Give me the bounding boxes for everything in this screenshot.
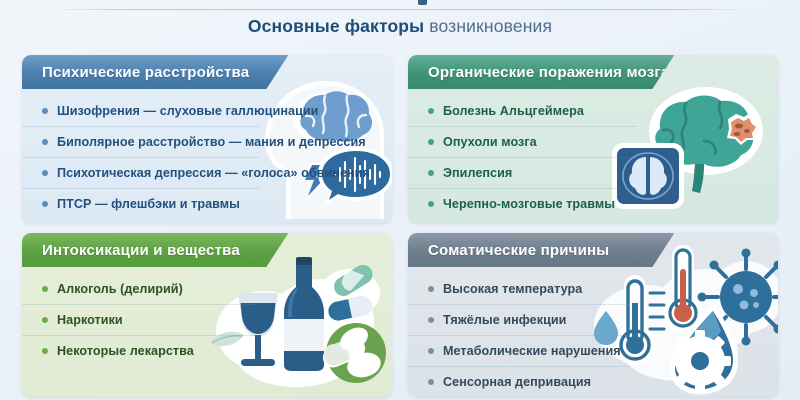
list-item[interactable]: ПТСР — флешбэки и травмы [22, 188, 259, 219]
card-intoxication-substances[interactable]: Интоксикации и вещества [22, 233, 392, 397]
bullet-dot-icon [428, 286, 434, 292]
bullet-dot-icon [428, 139, 434, 145]
list-item-label: Опухоли мозга [443, 135, 537, 149]
list-item-label: Наркотики [57, 313, 123, 327]
list-item[interactable]: Биполярное расстройство — мания и депрес… [22, 126, 259, 157]
bullet-dot-icon [42, 348, 48, 354]
card-title-toxic: Интоксикации и вещества [42, 242, 240, 259]
gear-icon [669, 330, 731, 392]
list-item[interactable]: Высокая температура [408, 273, 630, 304]
bullet-dot-icon [428, 348, 434, 354]
page-title-rest: возникновения [429, 16, 552, 36]
page-title-strong: Основные факторы [248, 16, 424, 36]
list-item[interactable]: Опухоли мозга [408, 126, 637, 157]
capsule-icon [327, 261, 376, 322]
bullet-dot-icon [42, 286, 48, 292]
list-item[interactable]: Эпилепсия [408, 157, 637, 188]
page-title: Основные факторы возникновения [0, 16, 800, 37]
card-header-organic: Органические поражения мозга [408, 55, 674, 89]
list-item-label: Тяжёлые инфекции [443, 313, 566, 327]
list-item-label: Психотическая депрессия — «голоса» обвин… [57, 166, 370, 180]
virus-icon [698, 249, 779, 346]
capsule-icon [320, 335, 368, 370]
list-item[interactable]: Черепно-мозговые травмы [408, 188, 637, 219]
card-psychiatric-disorders[interactable]: Психические расстройства [22, 55, 392, 223]
top-divider [48, 9, 752, 10]
list-item-label: Метаболические нарушения [443, 344, 621, 358]
top-cutoff-mark [418, 0, 427, 5]
mercury-thermometer-icon [664, 245, 702, 332]
list-item[interactable]: Некоторые лекарства [22, 335, 259, 366]
card-list-somatic: Высокая температура Тяжёлые инфекции Мет… [408, 267, 630, 397]
list-item-label: Биполярное расстройство — мания и депрес… [57, 135, 366, 149]
bullet-dot-icon [42, 139, 48, 145]
bullet-dot-icon [42, 201, 48, 207]
list-item-label: ПТСР — флешбэки и травмы [57, 197, 240, 211]
list-item-label: Алкоголь (делирий) [57, 282, 183, 296]
list-item[interactable]: Болезнь Альцгеймера [408, 95, 637, 126]
pills-icon [320, 323, 386, 383]
list-item-label: Черепно-мозговые травмы [443, 197, 615, 211]
bullet-dot-icon [428, 317, 434, 323]
list-item-label: Шизофрения — слуховые галлюцинации [57, 104, 318, 118]
list-item[interactable]: Психотическая депрессия — «голоса» обвин… [22, 157, 259, 188]
list-item[interactable]: Сенсорная депривация [408, 366, 630, 397]
list-item[interactable]: Алкоголь (делирий) [22, 273, 259, 304]
tumor-lesion [727, 113, 760, 145]
bullet-dot-icon [42, 317, 48, 323]
card-title-organic: Органические поражения мозга [428, 64, 669, 81]
card-header-psychiatric: Психические расстройства [22, 55, 288, 89]
bullet-dot-icon [428, 170, 434, 176]
list-item[interactable]: Шизофрения — слуховые галлюцинации [22, 95, 259, 126]
card-list-organic: Болезнь Альцгеймера Опухоли мозга Эпилеп… [408, 89, 637, 219]
head-silhouette-icon [265, 81, 384, 219]
brain-tumor-icon [649, 87, 763, 193]
card-organic-brain-lesions[interactable]: Органические поражения мозга [408, 55, 778, 223]
list-item[interactable]: Тяжёлые инфекции [408, 304, 630, 335]
list-item[interactable]: Наркотики [22, 304, 259, 335]
gear-drop-icon [669, 303, 738, 395]
list-item-label: Эпилепсия [443, 166, 512, 180]
factor-card-grid: Психические расстройства [22, 55, 778, 397]
bullet-dot-icon [428, 201, 434, 207]
list-item[interactable]: Метаболические нарушения [408, 335, 630, 366]
bullet-dot-icon [428, 108, 434, 114]
list-item-label: Сенсорная депривация [443, 375, 591, 389]
list-item-label: Болезнь Альцгеймера [443, 104, 584, 118]
bottle-icon [284, 257, 324, 371]
bullet-dot-icon [428, 379, 434, 385]
card-header-toxic: Интоксикации и вещества [22, 233, 288, 267]
bullet-dot-icon [42, 108, 48, 114]
card-list-toxic: Алкоголь (делирий) Наркотики Некоторые л… [22, 267, 259, 366]
card-list-psychiatric: Шизофрения — слуховые галлюцинации Бипол… [22, 89, 259, 219]
list-item-label: Некоторые лекарства [57, 344, 194, 358]
card-somatic-causes[interactable]: Соматические причины [408, 233, 778, 397]
card-header-somatic: Соматические причины [408, 233, 674, 267]
bullet-dot-icon [42, 170, 48, 176]
card-title-psychiatric: Психические расстройства [42, 64, 249, 81]
card-title-somatic: Соматические причины [428, 242, 609, 259]
list-item-label: Высокая температура [443, 282, 582, 296]
